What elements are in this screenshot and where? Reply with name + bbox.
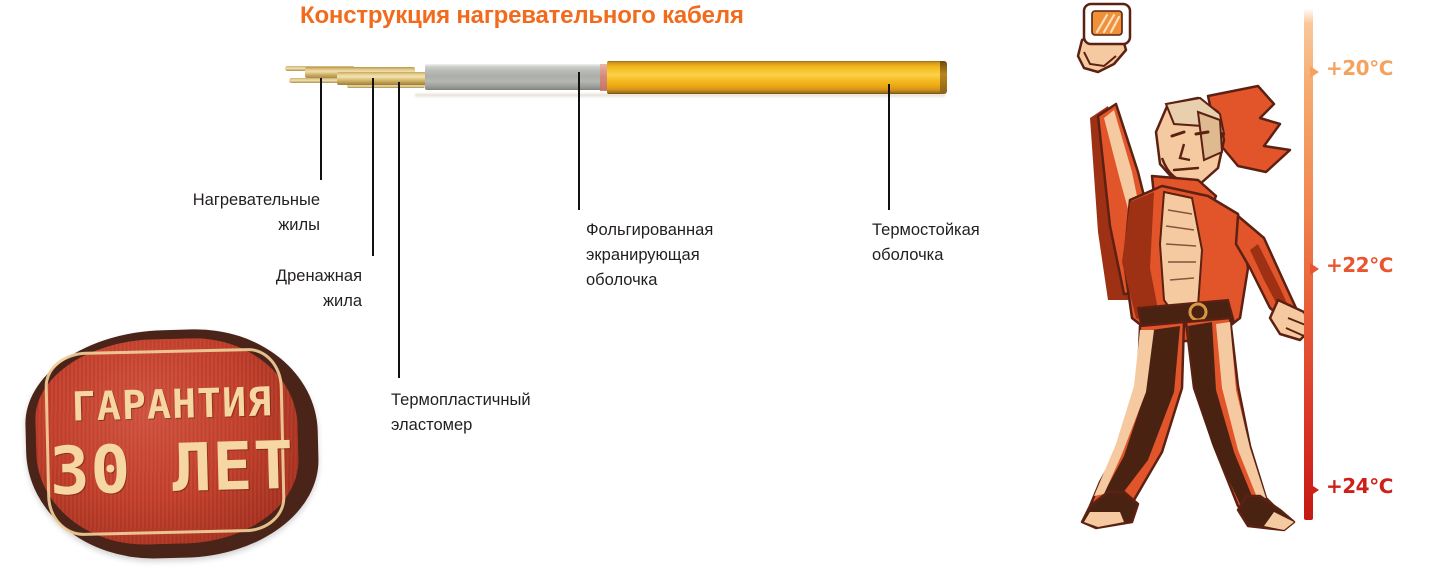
heat-resistant-jacket (607, 61, 945, 94)
worker-with-thermostat-illustration (1012, 0, 1312, 540)
leader-line-foil-shield (578, 72, 580, 210)
callout-heating-cores: Нагревательные жилы (130, 188, 320, 238)
temperature-arrow-icon (1310, 484, 1319, 496)
cable-drop-shadow (415, 94, 945, 98)
temperature-arrow-icon (1310, 66, 1319, 78)
callout-thermoplastic: Термопластичный эластомер (391, 388, 621, 438)
page-title: Конструкция нагревательного кабеля (300, 2, 720, 30)
callout-drain-wire: Дренажная жила (200, 264, 362, 314)
leader-line-heat-jacket (888, 84, 890, 210)
heating-cable-cutaway (285, 55, 950, 103)
callout-foil-shield: Фольгированная экранирующая оболочка (586, 218, 816, 293)
badge-line-1: ГАРАНТИЯ (25, 378, 318, 432)
temperature-value-22: +22℃ (1326, 253, 1393, 277)
badge-line-2: 30 ЛЕТ (25, 426, 319, 511)
temperature-arrow-icon (1310, 263, 1319, 275)
leader-line-thermoplastic (398, 82, 400, 378)
leader-line-heating-cores (320, 78, 322, 180)
foil-shield-tube (425, 64, 608, 90)
temperature-value-20: +20℃ (1326, 56, 1393, 80)
conductor-bundle-lower (337, 72, 429, 85)
jacket-cut-end (940, 61, 947, 94)
temperature-value-24: +24℃ (1326, 474, 1393, 498)
leader-line-drain-wire (372, 78, 374, 256)
guarantee-badge: ГАРАНТИЯ 30 ЛЕТ (26, 330, 318, 565)
poster-canvas: Конструкция нагревательного кабеля Нагре… (0, 0, 1455, 580)
